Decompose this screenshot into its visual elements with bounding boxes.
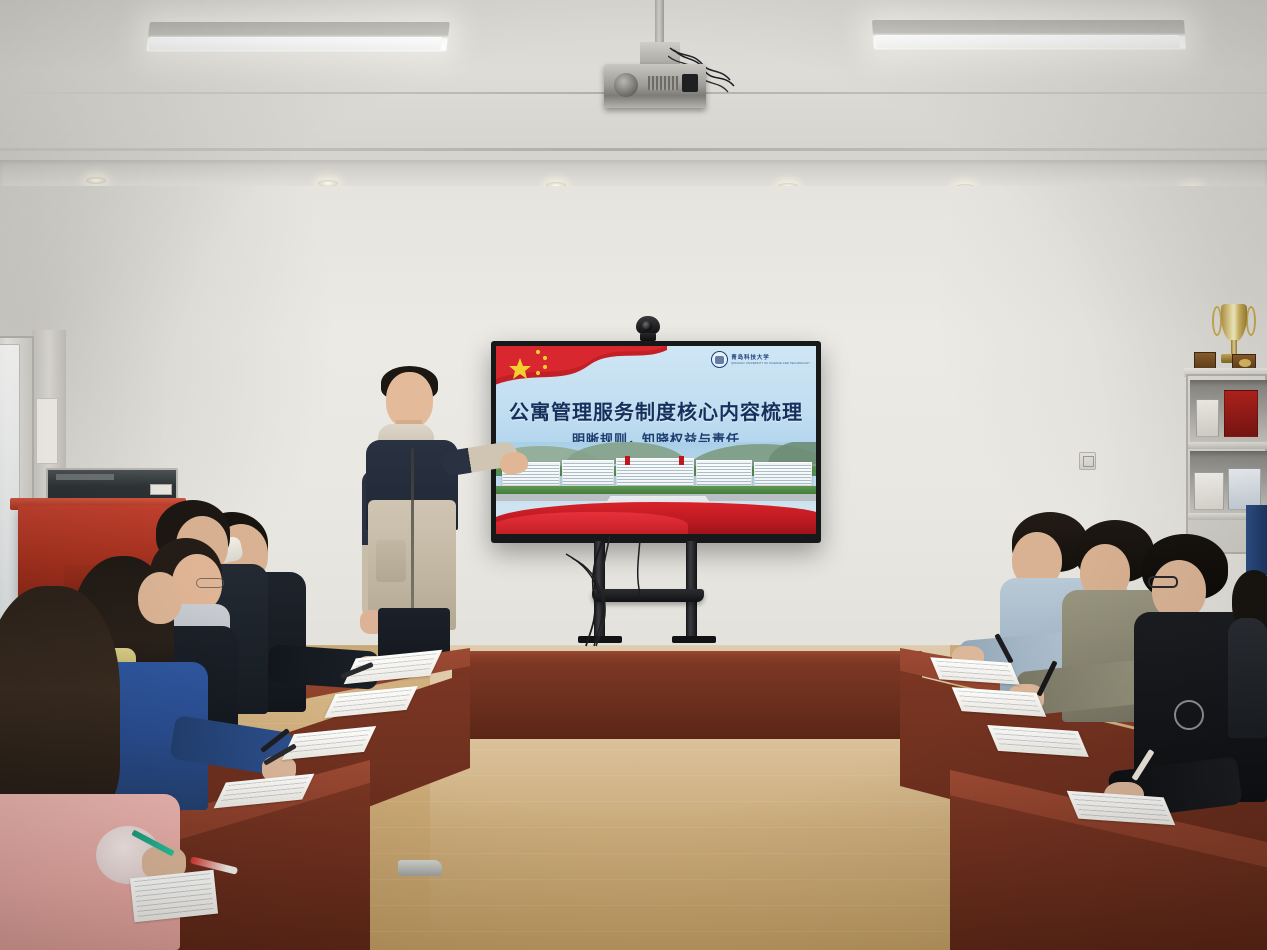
linear-ceiling-light-left — [146, 22, 450, 52]
projector-vent — [648, 76, 678, 90]
tv-stand-cables — [560, 536, 710, 648]
magazine[interactable] — [1194, 472, 1224, 510]
presenter-jacket-zipper — [411, 448, 414, 628]
magazine[interactable] — [1196, 399, 1219, 437]
plaza-flag — [625, 456, 630, 465]
campus-photo — [496, 442, 816, 534]
presenter-shoe — [398, 860, 442, 876]
university-emblem-icon — [711, 351, 728, 368]
ceiling-projector — [604, 64, 706, 108]
tv-screen: 青岛科技大学 QINGDAO UNIVERSITY OF SCIENCE AND… — [496, 346, 816, 534]
camera-lens-icon — [642, 321, 652, 331]
trophy-bowl — [1221, 304, 1247, 342]
magazine[interactable] — [1228, 468, 1261, 510]
equipment-slot — [56, 474, 114, 480]
ceiling-seam-secondary — [0, 148, 1267, 151]
wall-switch-plate[interactable] — [1079, 452, 1096, 470]
magazine[interactable] — [1224, 390, 1258, 437]
projector-lens-icon — [614, 73, 638, 97]
presenter-jacket-pocket — [376, 540, 406, 582]
equipment-label — [150, 484, 172, 495]
cabinet-glass-door — [0, 344, 20, 630]
shelf-side-panel — [1246, 505, 1267, 575]
video-conference-camera — [634, 316, 662, 342]
university-logo-subtext: QINGDAO UNIVERSITY OF SCIENCE AND TECHNO… — [731, 362, 810, 365]
conference-room-scene: 青岛科技大学 QINGDAO UNIVERSITY OF SCIENCE AND… — [0, 0, 1267, 950]
cabinet-notice — [36, 398, 58, 464]
trophy-handle-right — [1246, 306, 1256, 336]
note-paper[interactable] — [130, 870, 218, 923]
university-logo-text: 青岛科技大学 — [731, 354, 810, 362]
university-logo: 青岛科技大学 QINGDAO UNIVERSITY OF SCIENCE AND… — [711, 351, 810, 368]
linear-ceiling-light-right — [872, 20, 1186, 50]
wall-mounted-tv[interactable]: 青岛科技大学 QINGDAO UNIVERSITY OF SCIENCE AND… — [491, 341, 821, 543]
projector-mount-rod — [655, 0, 664, 44]
red-ribbon-overlay — [496, 512, 688, 534]
eyeglasses-icon — [1148, 576, 1178, 588]
shelf-lip-upper — [1188, 442, 1267, 449]
plaza-flag — [679, 456, 684, 465]
slide-title: 公寓管理服务制度核心内容梳理 — [496, 396, 816, 425]
jacket-logo-badge — [1174, 700, 1204, 730]
eyeglasses-icon — [196, 578, 224, 588]
recessed-downlight — [86, 177, 106, 184]
table-center-face — [452, 663, 922, 739]
